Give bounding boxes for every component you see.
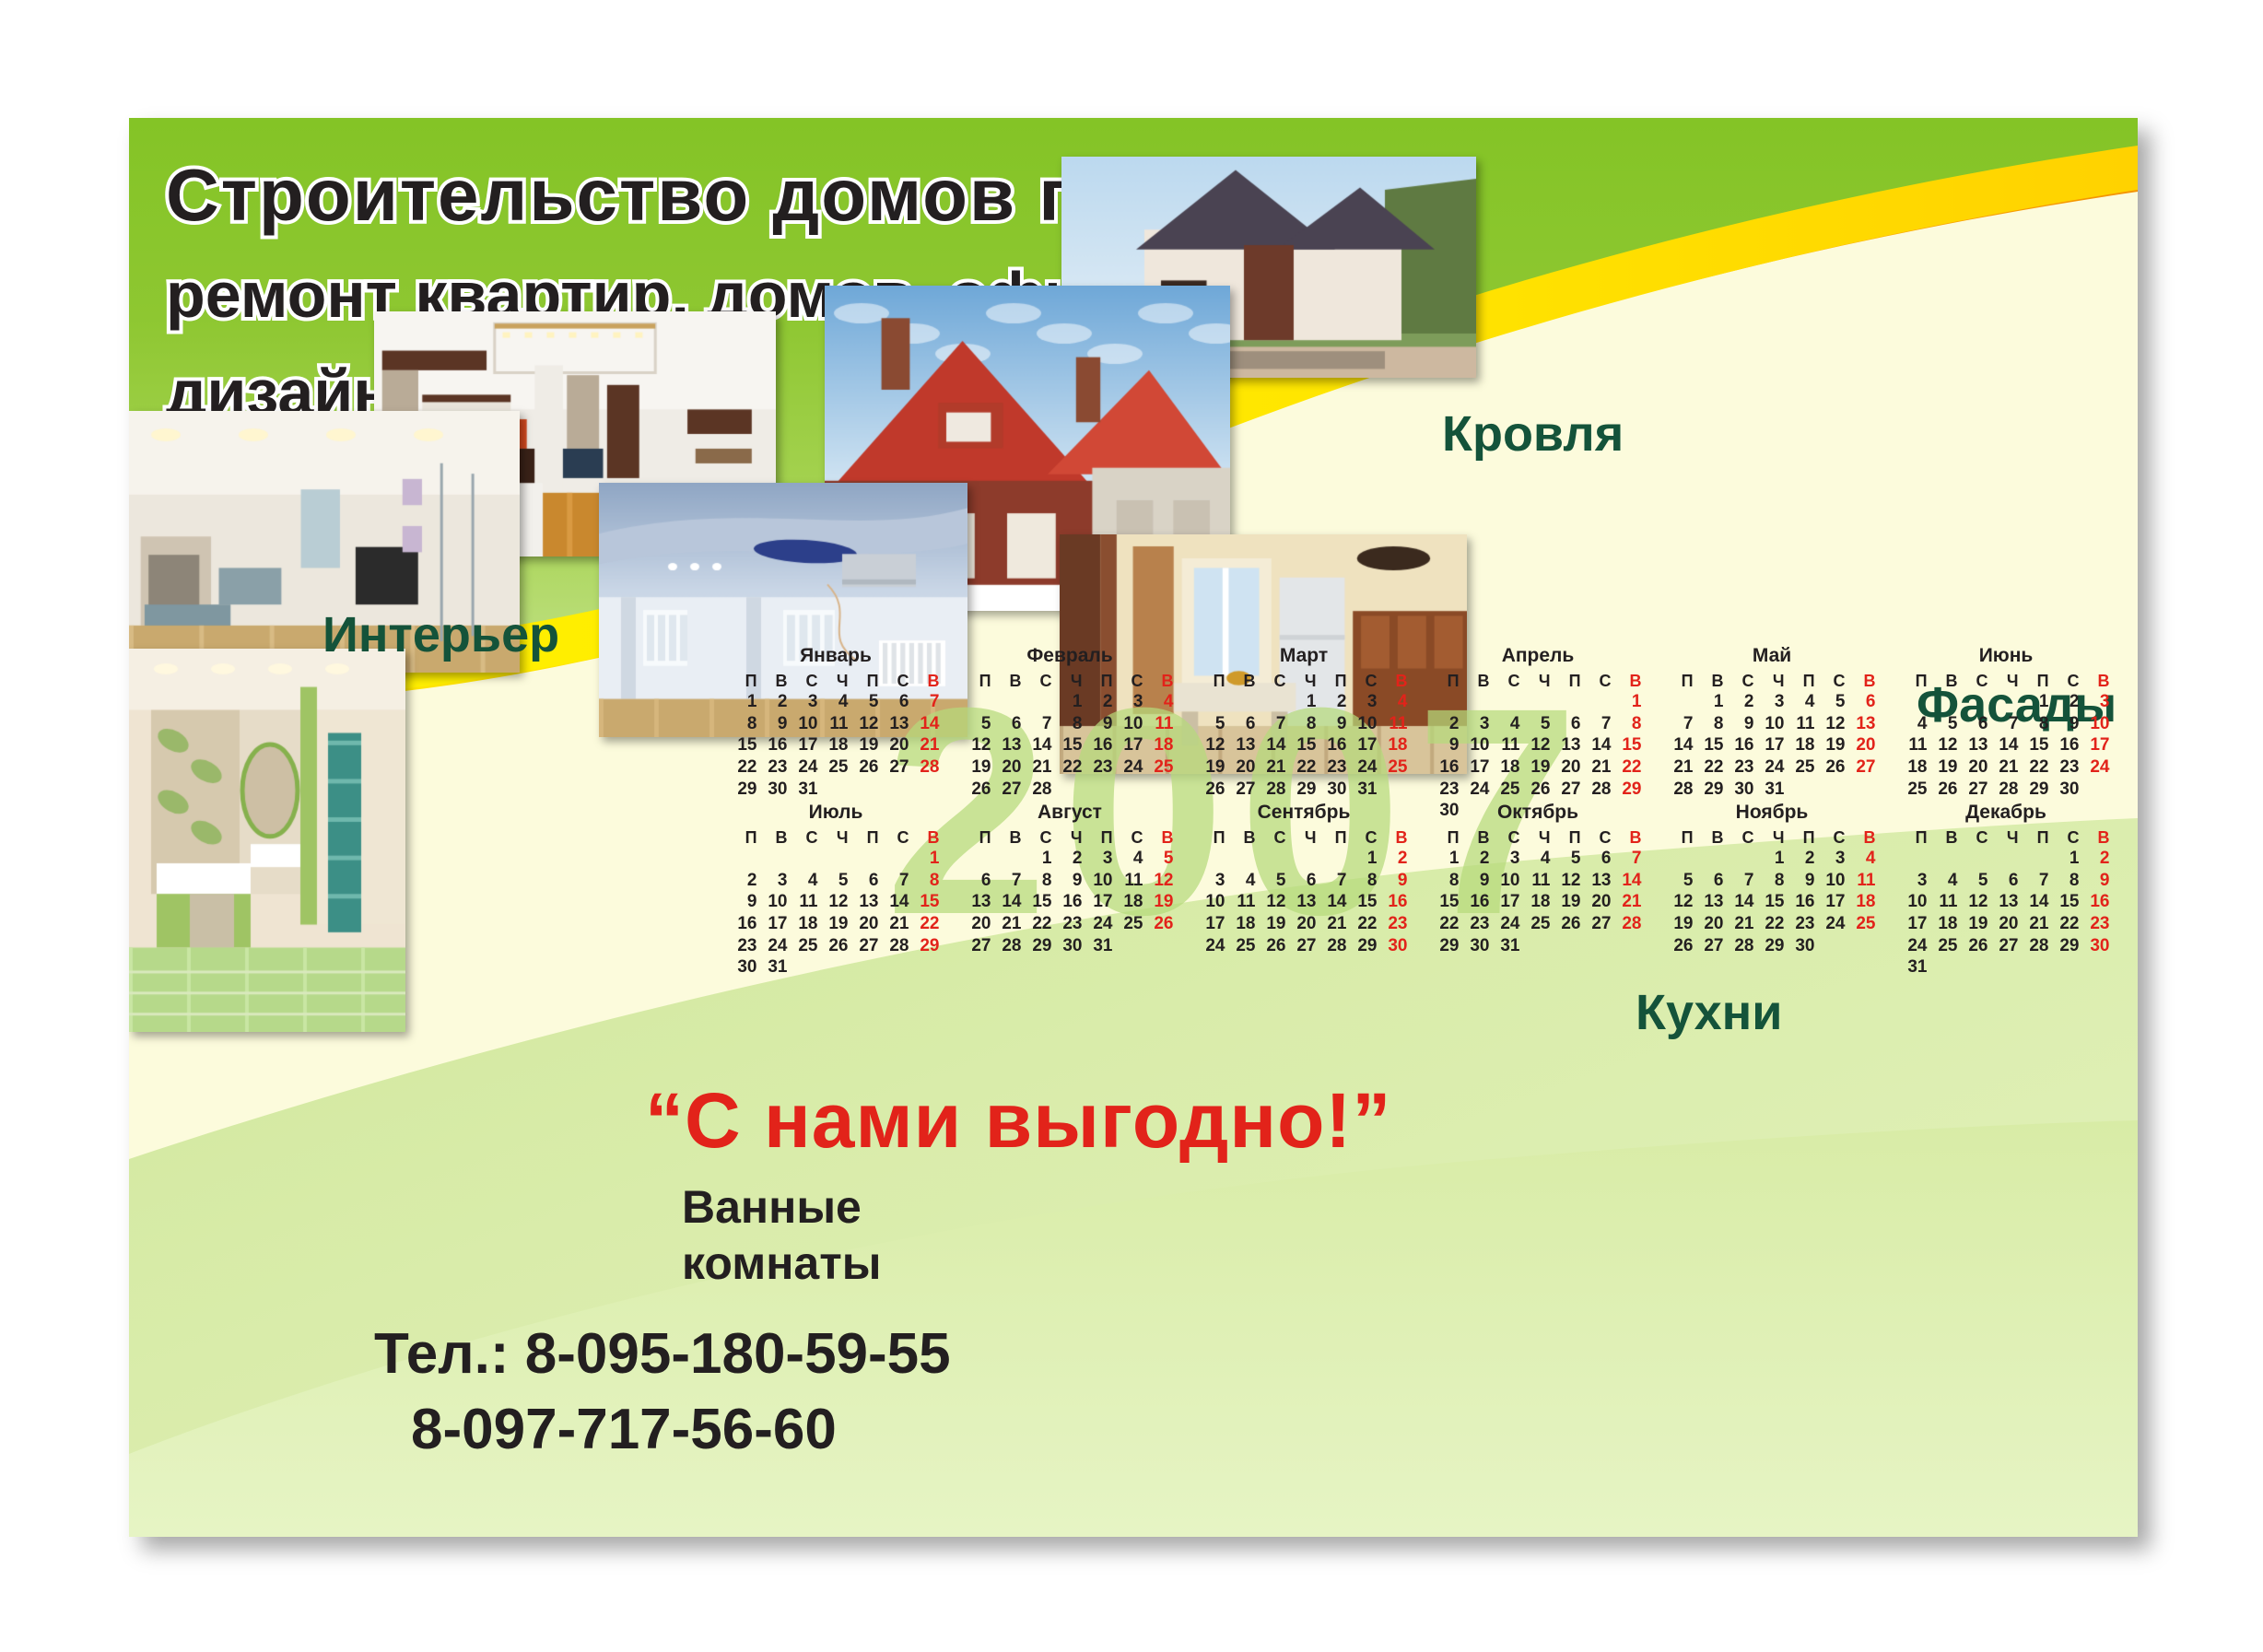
calendar-dow-header: С (1350, 671, 1380, 691)
calendar-dow-header: В (1380, 671, 1411, 691)
calendar-day-cell: 17 (1462, 756, 1493, 779)
calendar-day-cell: 7 (1584, 713, 1614, 735)
calendar-dow-header: С (1584, 671, 1614, 691)
calendar-day-cell: 10 (1085, 870, 1116, 892)
calendar-day-cell: 11 (1493, 734, 1523, 756)
calendar-dow-header: П (964, 671, 994, 691)
calendar-day-cell: 18 (1900, 756, 1930, 779)
calendar-day-cell: 3 (1350, 691, 1380, 713)
calendar-day-cell: 8 (1696, 713, 1727, 735)
calendar-day-cell: 30 (1727, 779, 1757, 801)
calendar-day-cell: 30 (1055, 935, 1085, 957)
calendar-day-cell: 12 (1146, 870, 1177, 892)
calendar-day-cell: 9 (760, 713, 791, 735)
calendar-day-cell: 19 (964, 756, 994, 779)
calendar-dow-header: П (730, 671, 760, 691)
calendar-day-cell: 17 (791, 734, 821, 756)
calendar-day-cell: 9 (1055, 870, 1085, 892)
calendar-day-cell: 24 (1900, 935, 1930, 957)
calendar-dow-header: П (1085, 671, 1116, 691)
calendar-dow-header: С (1116, 827, 1146, 848)
calendar-month-5: МайПВСЧПСВ012345678910111213141516171819… (1655, 645, 1889, 822)
calendar-day-cell: 16 (1788, 891, 1818, 913)
calendar-dow-header: В (1146, 827, 1177, 848)
calendar-month-grid: ПВСЧПСВ000123456789101112131415161718192… (953, 671, 1187, 800)
calendar-day-cell: 4 (1900, 713, 1930, 735)
calendar-day-cell: 19 (1666, 913, 1696, 935)
calendar-dow-header: П (1432, 827, 1462, 848)
calendar-day-cell: 12 (851, 713, 882, 735)
calendar-day-cell: 7 (1991, 713, 2022, 735)
calendar-dow-header: С (882, 671, 912, 691)
calendar-day-cell: 25 (1228, 935, 1259, 957)
calendar-day-cell: 27 (1554, 779, 1584, 801)
calendar-day-cell: 26 (1259, 935, 1289, 957)
calendar-day-cell: 18 (1930, 913, 1961, 935)
calendar-day-cell: 10 (1493, 870, 1523, 892)
screenshot-canvas: Строительство домов под ключ, ремонт ква… (0, 0, 2263, 1652)
calendar-dow-header: П (1666, 671, 1696, 691)
calendar-day-cell: 28 (2022, 935, 2052, 957)
calendar-day-cell: 17 (2082, 734, 2113, 756)
calendar-day-cell: 1 (1757, 848, 1788, 870)
calendar-day-cell: 7 (1614, 848, 1645, 870)
calendar-day-cell: 20 (1228, 756, 1259, 779)
calendar-day-cell: 28 (882, 935, 912, 957)
calendar-day-cell: 13 (1554, 734, 1584, 756)
photo-bathroom-green (129, 649, 405, 1032)
calendar-day-cell: 14 (1727, 891, 1757, 913)
calendar-day-cell: 14 (882, 891, 912, 913)
calendar-dow-header: С (2052, 671, 2082, 691)
calendar-month-title: Декабрь (1889, 802, 2123, 824)
calendar-day-cell: 22 (730, 756, 760, 779)
calendar-day-cell: 29 (730, 779, 760, 801)
calendar-day-cell: 27 (1696, 935, 1727, 957)
calendar-day-cell: 6 (1696, 870, 1727, 892)
calendar-day-cell: 29 (1614, 779, 1645, 801)
calendar-dow-header: В (1930, 671, 1961, 691)
calendar-day-cell: 8 (1350, 870, 1380, 892)
calendar-dow-header: В (1696, 671, 1727, 691)
calendar-day-cell: 12 (1554, 870, 1584, 892)
calendar-day-cell: 8 (2052, 870, 2082, 892)
calendar-day-cell: 21 (912, 734, 943, 756)
calendar-day-cell: 22 (1025, 913, 1055, 935)
calendar-day-cell: 7 (1727, 870, 1757, 892)
calendar-day-cell: 6 (964, 870, 994, 892)
calendar-day-cell: 21 (994, 913, 1025, 935)
calendar-day-cell: 30 (1319, 779, 1350, 801)
calendar-month-grid: ПВСЧПСВ001234567891011121314151617181920… (953, 827, 1187, 956)
calendar-day-cell: 20 (1991, 913, 2022, 935)
calendar-day-cell: 12 (1523, 734, 1554, 756)
calendar-day-cell: 6 (994, 713, 1025, 735)
calendar-day-cell: 14 (1584, 734, 1614, 756)
calendar-day-cell: 30 (760, 779, 791, 801)
calendar-day-cell: 6 (851, 870, 882, 892)
calendar-day-cell: 11 (1900, 734, 1930, 756)
calendar-dow-header: В (760, 671, 791, 691)
calendar-day-cell: 11 (791, 891, 821, 913)
calendar-day-cell: 23 (1085, 756, 1116, 779)
calendar-month-grid: ПВСЧПСВ000012345678910111213141516171819… (1889, 671, 2123, 800)
calendar-day-cell: 18 (1493, 756, 1523, 779)
calendar-month-grid: ПВСЧПСВ123456789101112131415161718192021… (1421, 827, 1655, 956)
calendar-day-cell: 29 (1350, 935, 1380, 957)
calendar-day-cell: 28 (912, 756, 943, 779)
calendar-day-cell: 2 (730, 870, 760, 892)
calendar-day-cell: 12 (1666, 891, 1696, 913)
calendar-month-title: Ноябрь (1655, 802, 1889, 824)
calendar-day-cell: 30 (2082, 935, 2113, 957)
calendar-day-cell: 19 (1523, 756, 1554, 779)
calendar-dow-header: С (1493, 671, 1523, 691)
calendar-dow-header: В (912, 827, 943, 848)
calendar-day-cell: 29 (912, 935, 943, 957)
calendar-day-cell: 7 (882, 870, 912, 892)
calendar-day-cell: 6 (882, 691, 912, 713)
calendar-day-cell: 4 (1848, 848, 1879, 870)
calendar-day-cell: 28 (1666, 779, 1696, 801)
calendar-day-cell: 31 (1900, 956, 1930, 978)
calendar-dow-header: В (2082, 671, 2113, 691)
calendar-day-cell: 23 (1432, 779, 1462, 801)
calendar-dow-header: П (851, 671, 882, 691)
phone-value-1: 8-095-180-59-55 (525, 1322, 951, 1386)
calendar-day-cell: 17 (1818, 891, 1848, 913)
calendar-dow-header: В (1462, 671, 1493, 691)
calendar-dow-header: С (882, 827, 912, 848)
calendar-day-cell: 4 (1788, 691, 1818, 713)
calendar-dow-header: В (1228, 671, 1259, 691)
calendar-day-cell: 25 (1788, 756, 1818, 779)
calendar-day-cell: 10 (1900, 891, 1930, 913)
phone-number-secondary: 8-097-717-56-60 (411, 1397, 837, 1462)
calendar-day-cell: 22 (1055, 756, 1085, 779)
calendar-month-title: Июнь (1889, 645, 2123, 667)
calendar-day-cell: 31 (1350, 779, 1380, 801)
calendar-day-cell: 1 (1614, 691, 1645, 713)
calendar-day-cell: 8 (1025, 870, 1055, 892)
calendar-day-cell: 25 (1146, 756, 1177, 779)
calendar-dow-header: С (1350, 827, 1380, 848)
calendar-day-cell: 26 (1961, 935, 1991, 957)
calendar-dow-header: В (1614, 671, 1645, 691)
calendar-day-cell: 22 (1432, 913, 1462, 935)
year-calendar: 2007 ЯнварьПВСЧПСВ1234567891011121314151… (719, 645, 2138, 921)
calendar-day-cell: 1 (2022, 691, 2052, 713)
calendar-dow-header: С (1818, 671, 1848, 691)
calendar-day-cell: 25 (1848, 913, 1879, 935)
calendar-day-cell: 23 (1462, 913, 1493, 935)
calendar-day-cell: 3 (2082, 691, 2113, 713)
calendar-day-cell: 3 (1462, 713, 1493, 735)
calendar-day-cell: 1 (2052, 848, 2082, 870)
calendar-day-cell: 3 (1900, 870, 1930, 892)
calendar-month-title: Январь (719, 645, 953, 667)
calendar-day-cell: 26 (1198, 779, 1228, 801)
calendar-dow-header: П (1198, 671, 1228, 691)
calendar-day-cell: 20 (882, 734, 912, 756)
calendar-day-cell: 23 (1319, 756, 1350, 779)
calendar-month-grid: ПВСЧПСВ000000123456789101112131415161718… (1421, 671, 1655, 822)
calendar-day-cell: 15 (1350, 891, 1380, 913)
calendar-day-cell: 28 (1025, 779, 1055, 801)
calendar-day-cell: 4 (1116, 848, 1146, 870)
calendar-day-cell: 23 (1788, 913, 1818, 935)
calendar-day-cell: 24 (760, 935, 791, 957)
calendar-day-cell: 12 (1961, 891, 1991, 913)
calendar-dow-header: В (1696, 827, 1727, 848)
calendar-day-cell: 2 (1085, 691, 1116, 713)
calendar-day-cell: 7 (1666, 713, 1696, 735)
calendar-day-cell: 16 (1462, 891, 1493, 913)
calendar-day-cell: 5 (851, 691, 882, 713)
calendar-day-cell: 31 (1493, 935, 1523, 957)
calendar-month-12: ДекабрьПВСЧПСВ00000123456789101112131415… (1889, 802, 2123, 978)
calendar-month-grid: ПВСЧПСВ000001234567891011121314151617181… (1889, 827, 2123, 978)
calendar-day-cell: 26 (964, 779, 994, 801)
calendar-day-cell: 27 (964, 935, 994, 957)
calendar-dow-header: С (1025, 827, 1055, 848)
calendar-day-cell: 21 (1025, 756, 1055, 779)
calendar-day-cell: 8 (730, 713, 760, 735)
phone-number-primary: Тел.: 8-095-180-59-55 (374, 1321, 951, 1387)
calendar-day-cell: 23 (1055, 913, 1085, 935)
label-bathroom: Ванные комнаты (682, 1179, 958, 1292)
calendar-day-cell: 3 (1493, 848, 1523, 870)
calendar-day-cell: 14 (1025, 734, 1055, 756)
calendar-day-cell: 30 (1380, 935, 1411, 957)
calendar-day-cell: 21 (1666, 756, 1696, 779)
calendar-day-cell: 22 (912, 913, 943, 935)
calendar-day-cell: 27 (851, 935, 882, 957)
calendar-dow-header: В (1380, 827, 1411, 848)
calendar-day-cell: 21 (1727, 913, 1757, 935)
calendar-dow-header: С (1727, 827, 1757, 848)
calendar-day-cell: 16 (1085, 734, 1116, 756)
calendar-day-cell: 29 (1025, 935, 1055, 957)
calendar-dow-header: П (2022, 671, 2052, 691)
calendar-dow-header: С (1259, 827, 1289, 848)
calendar-row-second-half: ИюльПВСЧПСВ00000012345678910111213141516… (719, 802, 2138, 978)
calendar-day-cell: 9 (1319, 713, 1350, 735)
calendar-day-cell: 12 (821, 891, 851, 913)
calendar-month-8: АвгустПВСЧПСВ001234567891011121314151617… (953, 802, 1187, 978)
calendar-day-cell: 21 (1614, 891, 1645, 913)
calendar-dow-header: П (1788, 827, 1818, 848)
calendar-dow-header: Ч (1991, 671, 2022, 691)
calendar-day-cell: 13 (964, 891, 994, 913)
calendar-month-grid: ПВСЧПСВ012345678910111213141516171819202… (1655, 671, 1889, 800)
calendar-day-cell: 14 (912, 713, 943, 735)
calendar-day-cell: 28 (1259, 779, 1289, 801)
calendar-dow-header: Ч (1523, 671, 1554, 691)
calendar-day-cell: 5 (821, 870, 851, 892)
calendar-day-cell: 9 (1727, 713, 1757, 735)
calendar-month-grid: ПВСЧПСВ000001234567891011121314151617181… (1187, 827, 1421, 956)
calendar-day-cell: 18 (1380, 734, 1411, 756)
calendar-day-cell: 20 (1289, 913, 1319, 935)
calendar-day-cell: 6 (1584, 848, 1614, 870)
calendar-day-cell: 13 (1696, 891, 1727, 913)
calendar-day-cell: 18 (1116, 891, 1146, 913)
calendar-day-cell: 22 (1614, 756, 1645, 779)
calendar-day-cell: 13 (851, 891, 882, 913)
calendar-day-cell: 15 (912, 891, 943, 913)
calendar-day-cell: 25 (1493, 779, 1523, 801)
calendar-day-cell: 20 (1554, 756, 1584, 779)
calendar-dow-header: Ч (1523, 827, 1554, 848)
calendar-day-cell: 5 (1666, 870, 1696, 892)
calendar-day-cell: 9 (2052, 713, 2082, 735)
calendar-dow-header: В (2082, 827, 2113, 848)
calendar-day-cell: 9 (730, 891, 760, 913)
calendar-dow-header: Ч (821, 671, 851, 691)
calendar-day-cell: 26 (1930, 779, 1961, 801)
calendar-day-cell: 23 (1380, 913, 1411, 935)
calendar-day-cell: 19 (1818, 734, 1848, 756)
calendar-day-cell: 27 (1961, 779, 1991, 801)
calendar-day-cell: 3 (1116, 691, 1146, 713)
calendar-day-cell: 26 (821, 935, 851, 957)
calendar-day-cell: 24 (2082, 756, 2113, 779)
calendar-day-cell: 19 (1930, 756, 1961, 779)
advertising-poster: Строительство домов под ключ, ремонт ква… (129, 118, 2138, 1537)
calendar-day-cell: 5 (1554, 848, 1584, 870)
calendar-month-grid: ПВСЧПСВ123456789101112131415161718192021… (719, 671, 953, 800)
calendar-dow-header: П (1788, 671, 1818, 691)
calendar-day-cell: 22 (1757, 913, 1788, 935)
calendar-day-cell: 11 (821, 713, 851, 735)
calendar-day-cell: 14 (1991, 734, 2022, 756)
calendar-month-9: СентябрьПВСЧПСВ0000012345678910111213141… (1187, 802, 1421, 978)
calendar-day-cell: 13 (1961, 734, 1991, 756)
calendar-day-cell: 6 (1228, 713, 1259, 735)
calendar-day-cell: 29 (2052, 935, 2082, 957)
calendar-day-cell: 21 (1319, 913, 1350, 935)
calendar-day-cell: 7 (994, 870, 1025, 892)
calendar-dow-header: П (1900, 671, 1930, 691)
calendar-day-cell: 28 (994, 935, 1025, 957)
calendar-day-cell: 6 (1991, 870, 2022, 892)
calendar-month-7: ИюльПВСЧПСВ00000012345678910111213141516… (719, 802, 953, 978)
calendar-day-cell: 28 (1991, 779, 2022, 801)
calendar-day-cell: 17 (1900, 913, 1930, 935)
calendar-day-cell: 13 (1289, 891, 1319, 913)
calendar-day-cell: 28 (1727, 935, 1757, 957)
calendar-dow-header: Ч (1757, 827, 1788, 848)
calendar-day-cell: 1 (912, 848, 943, 870)
calendar-day-cell: 23 (2052, 756, 2082, 779)
calendar-dow-header: Ч (1055, 827, 1085, 848)
calendar-day-cell: 11 (1380, 713, 1411, 735)
calendar-month-title: Сентябрь (1187, 802, 1421, 824)
calendar-month-title: Апрель (1421, 645, 1655, 667)
calendar-day-cell: 17 (760, 913, 791, 935)
calendar-day-cell: 17 (1116, 734, 1146, 756)
calendar-day-cell: 16 (1727, 734, 1757, 756)
calendar-month-6: ИюньПВСЧПСВ00001234567891011121314151617… (1889, 645, 2123, 822)
calendar-day-cell: 6 (1554, 713, 1584, 735)
calendar-day-cell: 24 (1493, 913, 1523, 935)
calendar-day-cell: 25 (1380, 756, 1411, 779)
calendar-dow-header: П (1085, 827, 1116, 848)
calendar-day-cell: 16 (1432, 756, 1462, 779)
calendar-day-cell: 9 (1462, 870, 1493, 892)
calendar-day-cell: 26 (1818, 756, 1848, 779)
calendar-day-cell: 15 (1025, 891, 1055, 913)
calendar-day-cell: 10 (1116, 713, 1146, 735)
calendar-day-cell: 23 (730, 935, 760, 957)
calendar-day-cell: 6 (1848, 691, 1879, 713)
calendar-day-cell: 25 (821, 756, 851, 779)
calendar-day-cell: 20 (1848, 734, 1879, 756)
calendar-day-cell: 30 (1462, 935, 1493, 957)
calendar-day-cell: 8 (1614, 713, 1645, 735)
calendar-dow-header: Ч (821, 827, 851, 848)
calendar-day-cell: 15 (730, 734, 760, 756)
calendar-day-cell: 5 (1523, 713, 1554, 735)
calendar-day-cell: 7 (912, 691, 943, 713)
calendar-dow-header: В (1930, 827, 1961, 848)
calendar-day-cell: 2 (1462, 848, 1493, 870)
calendar-day-cell: 15 (1289, 734, 1319, 756)
calendar-day-cell: 13 (1991, 891, 2022, 913)
calendar-day-cell: 7 (1259, 713, 1289, 735)
calendar-day-cell: 28 (1319, 935, 1350, 957)
calendar-day-cell: 28 (1614, 913, 1645, 935)
calendar-day-cell: 30 (2052, 779, 2082, 801)
calendar-dow-header: П (1554, 827, 1584, 848)
calendar-month-grid: ПВСЧПСВ000123456789101112131415161718192… (1655, 827, 1889, 956)
calendar-day-cell: 18 (1848, 891, 1879, 913)
calendar-month-grid: ПВСЧПСВ000000123456789101112131415161718… (719, 827, 953, 978)
calendar-day-cell: 27 (1289, 935, 1319, 957)
calendar-day-cell: 24 (1818, 913, 1848, 935)
calendar-dow-header: С (791, 827, 821, 848)
calendar-dow-header: В (912, 671, 943, 691)
calendar-day-cell: 17 (1757, 734, 1788, 756)
calendar-day-cell: 1 (1350, 848, 1380, 870)
calendar-day-cell: 5 (1259, 870, 1289, 892)
calendar-day-cell: 13 (882, 713, 912, 735)
calendar-day-cell: 11 (1523, 870, 1554, 892)
calendar-day-cell: 21 (1259, 756, 1289, 779)
calendar-dow-header: С (1818, 827, 1848, 848)
calendar-day-cell: 28 (1584, 779, 1614, 801)
calendar-day-cell: 9 (1788, 870, 1818, 892)
calendar-day-cell: 9 (1380, 870, 1411, 892)
calendar-dow-header: Ч (1757, 671, 1788, 691)
calendar-day-cell: 3 (791, 691, 821, 713)
calendar-day-cell: 26 (1554, 913, 1584, 935)
calendar-day-cell: 4 (821, 691, 851, 713)
calendar-day-cell: 20 (1961, 756, 1991, 779)
calendar-day-cell: 10 (1757, 713, 1788, 735)
calendar-day-cell: 9 (2082, 870, 2113, 892)
calendar-day-cell: 10 (1198, 891, 1228, 913)
calendar-dow-header: П (1319, 827, 1350, 848)
calendar-day-cell: 26 (1666, 935, 1696, 957)
calendar-day-cell: 25 (791, 935, 821, 957)
calendar-day-cell: 11 (1146, 713, 1177, 735)
calendar-dow-header: С (2052, 827, 2082, 848)
calendar-dow-header: С (1961, 827, 1991, 848)
calendar-day-cell: 4 (1493, 713, 1523, 735)
calendar-day-cell: 29 (1289, 779, 1319, 801)
